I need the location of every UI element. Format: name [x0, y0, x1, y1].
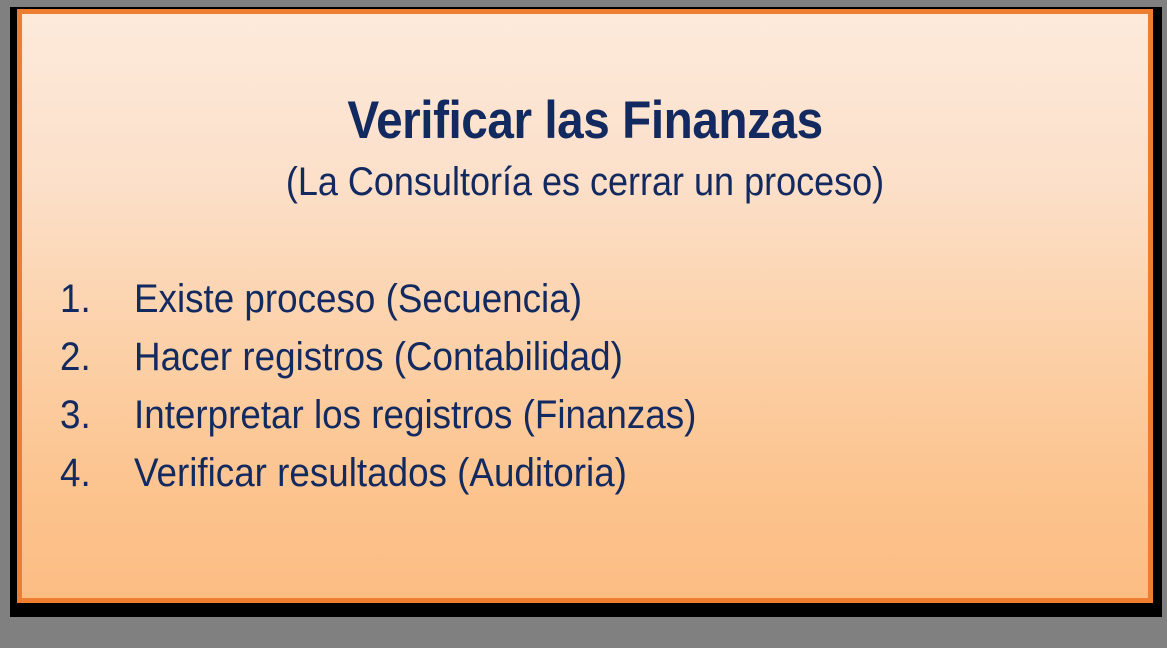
slide-subtitle: (La Consultoría es cerrar un proceso) — [78, 158, 1091, 206]
list-item-number: 2. — [60, 328, 128, 386]
list-item: 4. Verificar resultados (Auditoria) — [60, 444, 1128, 502]
list-item-number: 4. — [60, 444, 128, 502]
slide-heading-group: Verificar las Finanzas (La Consultoría e… — [22, 92, 1148, 206]
list-item-label: Existe proceso (Secuencia) — [134, 270, 582, 328]
list-item-label: Hacer registros (Contabilidad) — [134, 328, 623, 386]
slide-canvas: Verificar las Finanzas (La Consultoría e… — [0, 0, 1167, 648]
list-item: 2. Hacer registros (Contabilidad) — [60, 328, 1128, 386]
list-item-number: 3. — [60, 386, 128, 444]
slide-content-panel: Verificar las Finanzas (La Consultoría e… — [22, 14, 1148, 598]
list-item-label: Verificar resultados (Auditoria) — [134, 444, 627, 502]
list-item-number: 1. — [60, 270, 128, 328]
list-item: 1. Existe proceso (Secuencia) — [60, 270, 1128, 328]
slide-title: Verificar las Finanzas — [78, 92, 1091, 150]
list-item-label: Interpretar los registros (Finanzas) — [134, 386, 696, 444]
list-item: 3. Interpretar los registros (Finanzas) — [60, 386, 1128, 444]
numbered-list: 1. Existe proceso (Secuencia) 2. Hacer r… — [60, 270, 1128, 502]
